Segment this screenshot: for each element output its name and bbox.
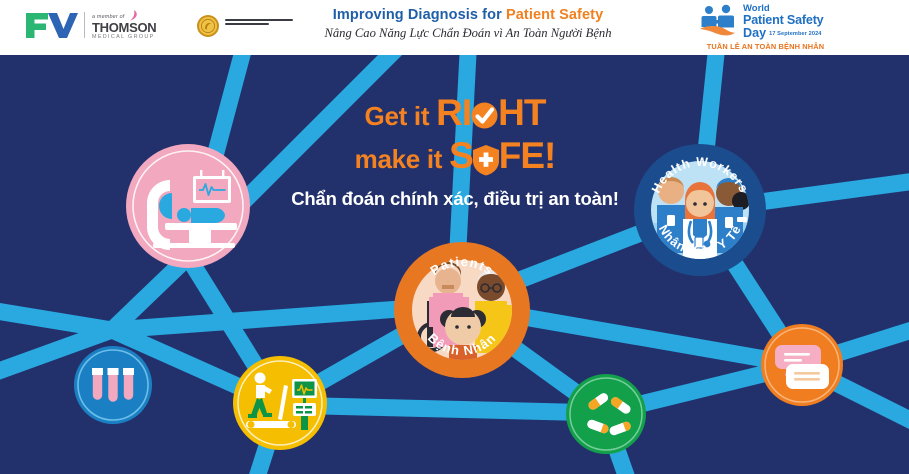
- treadmill-icon: [232, 355, 328, 451]
- thomson-medical-group-logo: a member of THOMSON MEDICAL GROUP: [92, 14, 192, 42]
- jci-gold-seal-icon: [196, 14, 220, 38]
- poster-root: a member of THOMSON MEDICAL GROUP Improv…: [0, 0, 909, 474]
- health-workers-icon: Health Workers Nhân Viên Y Tế: [633, 143, 767, 277]
- campaign-title-en-highlight: Patient Safety: [506, 7, 603, 23]
- jci-text-line-1: [225, 19, 293, 21]
- jci-text-line-2: [225, 23, 269, 25]
- node-imaging-scanner[interactable]: [125, 143, 251, 269]
- slogan-s: S: [449, 135, 473, 176]
- thomson-swoosh-icon: [129, 10, 139, 21]
- poster-canvas: Get it RI HT make it S FE! Chẩn đoán chí…: [0, 55, 909, 474]
- node-patients[interactable]: Patients Bệnh Nhân: [393, 241, 531, 379]
- campaign-title-en: Improving Diagnosis for Patient Safety: [303, 7, 633, 24]
- world-patient-safety-day-logo: World Patient Safety Day17 September 202…: [697, 3, 832, 53]
- slogan-ht: HT: [498, 92, 545, 133]
- slogan-block: Get it RI HT make it S FE! Chẩn đoán chí…: [290, 91, 620, 210]
- campaign-title: Improving Diagnosis for Patient Safety N…: [303, 7, 633, 41]
- jci-accreditation: [196, 13, 296, 41]
- header-bar: a member of THOMSON MEDICAL GROUP Improv…: [0, 0, 909, 55]
- slogan-checkmark-g-icon: [470, 98, 499, 127]
- jci-gold-seal-text: [225, 19, 295, 27]
- thomson-name: THOMSON: [92, 21, 192, 34]
- node-laboratory[interactable]: [73, 345, 153, 425]
- slogan-shield-cross-a-icon: [472, 144, 500, 176]
- slogan-line-2: make it S FE!: [290, 134, 620, 181]
- campaign-title-en-primary: Improving Diagnosis for: [333, 7, 506, 23]
- slogan-ri: RI: [436, 92, 471, 133]
- wpsd-wordmark: World Patient Safety Day17 September 202…: [743, 4, 835, 41]
- wpsd-date: 17 September 2024: [769, 31, 821, 37]
- slogan-fe: FE!: [499, 135, 556, 176]
- mri-scanner-icon: [125, 143, 251, 269]
- thomson-subtitle: MEDICAL GROUP: [92, 34, 192, 41]
- patients-group-icon: Patients Bệnh Nhân: [393, 241, 531, 379]
- node-rehabilitation[interactable]: [232, 355, 328, 451]
- speech-bubbles-icon: [760, 323, 844, 407]
- wpsd-vietnamese: TUẦN LỄ AN TOÀN BỆNH NHÂN: [699, 42, 832, 51]
- slogan-get-it: Get it: [365, 101, 437, 131]
- wpsd-line-3: Day: [743, 26, 766, 40]
- slogan-vietnamese: Chẩn đoán chính xác, điều trị an toàn!: [290, 188, 620, 210]
- wpsd-helping-hands-icon: [697, 4, 741, 38]
- slogan-make-it: make it: [355, 144, 449, 174]
- test-tubes-icon: [73, 345, 153, 425]
- node-communication[interactable]: [760, 323, 844, 407]
- slogan-line-1: Get it RI HT: [290, 91, 620, 138]
- fv-hospital-logo: [24, 10, 78, 40]
- logo-divider: [84, 12, 85, 38]
- campaign-title-vi: Nâng Cao Năng Lực Chẩn Đoán vì An Toàn N…: [303, 25, 633, 41]
- node-health-workers[interactable]: Health Workers Nhân Viên Y Tế: [633, 143, 767, 277]
- node-medication[interactable]: [565, 373, 647, 455]
- capsules-icon: [565, 373, 647, 455]
